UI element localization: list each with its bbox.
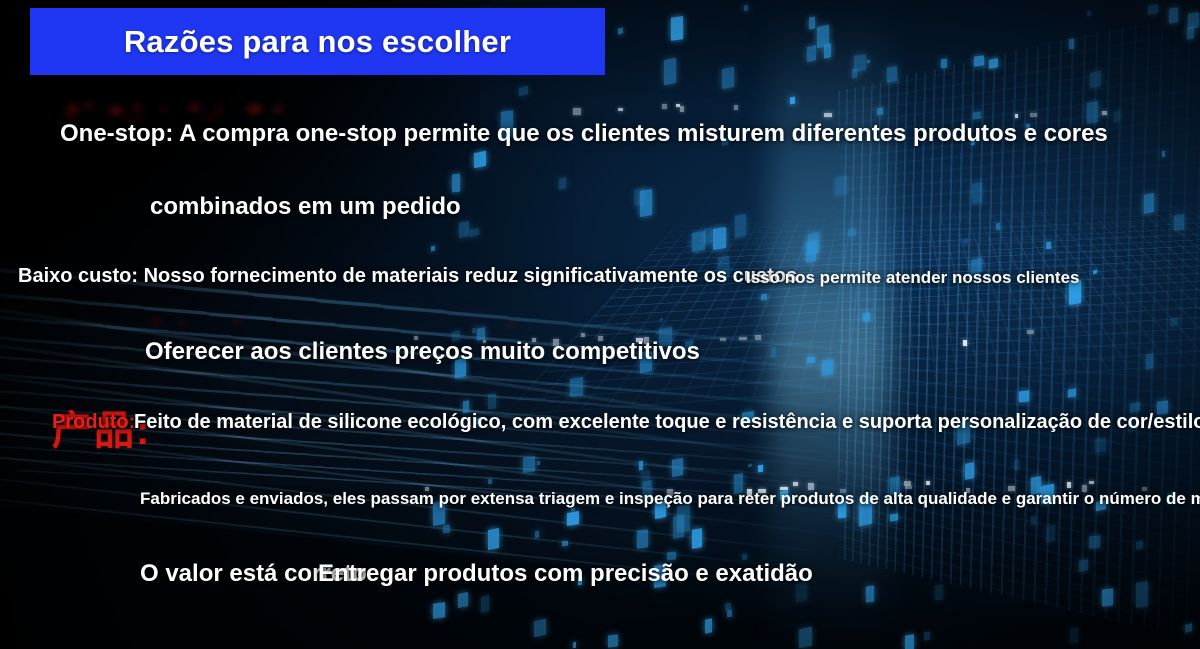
text-line-one-stop-b: combinados em um pedido — [150, 193, 461, 221]
text-line-baixo-custo: Baixo custo: Nosso fornecimento de mater… — [18, 265, 797, 288]
text-line-one-stop-a: One-stop: A compra one-stop permite que … — [60, 120, 1108, 148]
text-line-fabricados: Fabricados e enviados, eles passam por e… — [140, 489, 1200, 509]
poster-content: Razões para nos escolher 产品: One-stop: A… — [0, 0, 1200, 649]
text-line-produto-rest: Feito de material de silicone ecológico,… — [134, 411, 1200, 434]
text-line-precos-competitivos: Oferecer aos clientes preços muito compe… — [145, 338, 700, 366]
text-line-atender-clientes: Isso nos permite atender nossos clientes — [746, 268, 1080, 288]
title-banner: Razões para nos escolher — [30, 8, 605, 75]
page-title: Razões para nos escolher — [124, 24, 511, 60]
promo-poster: Razões para nos escolher 产品: One-stop: A… — [0, 0, 1200, 649]
text-line-entregar-precisao: Entregar produtos com precisão e exatidã… — [318, 560, 813, 588]
text-line-produto-prefix: Produto: — [52, 411, 135, 434]
